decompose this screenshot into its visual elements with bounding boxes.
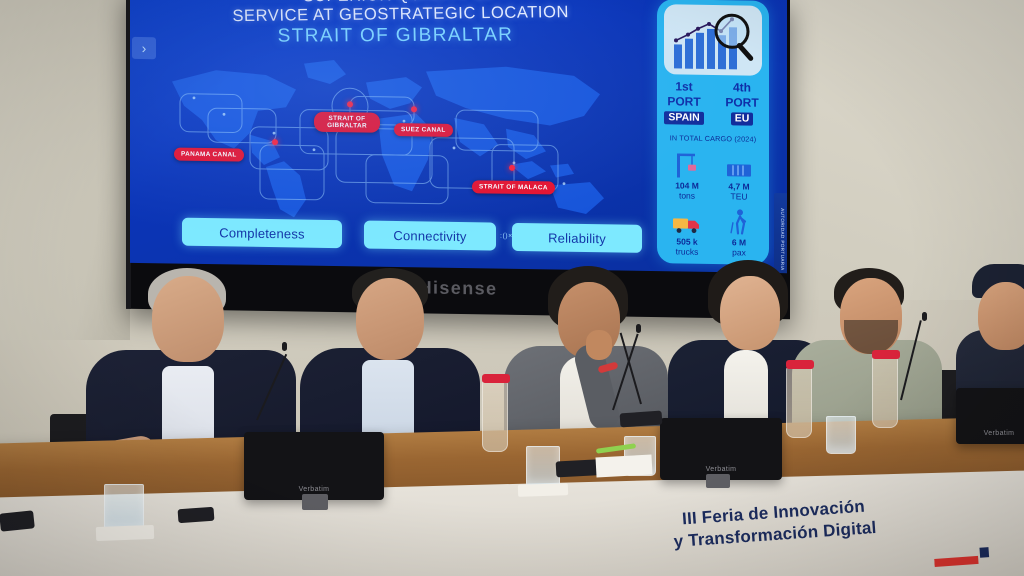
map-label-suez-canal: SUEZ CANAL — [394, 123, 453, 137]
world-map: PANAMA CANAL STRAIT OFGIBRALTAR SUEZ CAN… — [154, 47, 654, 225]
smartphone-3[interactable] — [620, 411, 663, 428]
panelist-3-hand — [586, 330, 612, 360]
slide-title-line2: SERVICE AT GEOSTRATEGIC LOCATION — [232, 3, 569, 25]
pill-completeness[interactable]: Completeness — [182, 218, 342, 249]
chevron-right-icon[interactable]: › — [132, 37, 156, 59]
carafe-cap-1 — [482, 374, 510, 383]
cargo-caption: IN TOTAL CARGO (2024) — [657, 133, 769, 144]
feature-pills: Completeness Connectivity :()× Reliabili… — [182, 218, 662, 256]
microphone-4-head — [922, 312, 927, 321]
presentation-slide: › SUPERIOR QUALITY OF SERVICE AT GEOSTRA… — [130, 0, 787, 273]
rank-left-number: 1st — [663, 79, 705, 95]
metric-tons-value: 104 M — [675, 180, 699, 191]
portable-monitor-center[interactable]: Verbatim — [660, 418, 782, 480]
water-carafe-1 — [482, 380, 508, 452]
metric-pax-unit: pax — [732, 249, 746, 259]
metrics-grid: 104 M tons — [661, 147, 765, 261]
rank-right-chip: EU — [731, 112, 754, 125]
metric-tons: 104 M tons — [661, 147, 713, 204]
map-dot-panama — [272, 139, 278, 145]
bar-chart-icon — [664, 4, 762, 76]
paper-sheet — [596, 455, 653, 478]
port-authority-logo: AUTORIDAD PORTUARIA — [774, 193, 787, 273]
water-glass-2 — [526, 446, 560, 488]
rank-right-word: PORT — [721, 95, 763, 111]
slide-subtitle: STRAIT OF GIBRALTAR — [164, 24, 627, 48]
rank-right-number: 4th — [721, 80, 763, 96]
map-dot-gibraltar — [347, 101, 353, 107]
stats-panel: 1st 4th PORT PORT SPAIN EU IN TOTAL CARG… — [657, 0, 769, 265]
pill-separator-mark: :()× — [500, 233, 513, 240]
metric-tons-unit: tons — [679, 192, 695, 202]
metric-trucks: 505 k trucks — [661, 203, 713, 260]
rank-left-chip: SPAIN — [664, 111, 703, 125]
portable-monitor-right[interactable]: Verbatim — [956, 388, 1024, 444]
napkin-1 — [96, 525, 154, 541]
metric-trucks-value: 505 k — [676, 236, 697, 247]
map-dot-suez — [411, 106, 417, 112]
metric-pax-value: 6 M — [732, 237, 746, 248]
map-label-strait-of-malaca: STRAIT OF MALACA — [472, 180, 555, 194]
microphone-1-head — [282, 342, 287, 351]
metric-pax: 6 M pax — [713, 204, 765, 261]
carafe-cap-3 — [872, 350, 900, 359]
panelist-6-head — [978, 282, 1024, 350]
pedestrian-icon — [728, 206, 750, 236]
container-icon — [725, 150, 753, 180]
metric-trucks-unit: trucks — [676, 248, 699, 258]
monitor-right-brand: Verbatim — [956, 430, 1024, 437]
panelist-4-head — [720, 276, 780, 350]
napkin-2 — [518, 483, 568, 497]
carafe-cap-2 — [786, 360, 814, 369]
monitor-center-brand: Verbatim — [660, 466, 782, 473]
map-dot-malaca — [509, 165, 515, 171]
chart-magnifier-illustration — [664, 4, 762, 76]
water-carafe-2 — [786, 366, 812, 438]
map-label-strait-of-gibraltar: STRAIT OFGIBRALTAR — [314, 112, 380, 133]
metric-teu-value: 4,7 M — [728, 181, 749, 192]
port-ranking: 1st 4th PORT PORT SPAIN EU — [657, 79, 769, 127]
water-glass-4 — [826, 416, 856, 454]
water-carafe-3 — [872, 356, 898, 428]
pill-connectivity[interactable]: Connectivity — [364, 221, 496, 251]
rank-left-word: PORT — [663, 94, 705, 110]
metric-teu: 4,7 M TEU — [713, 148, 765, 205]
map-label-panama-canal: PANAMA CANAL — [174, 148, 244, 162]
monitor-left-brand: Verbatim — [244, 486, 384, 493]
display-screen: › SUPERIOR QUALITY OF SERVICE AT GEOSTRA… — [130, 0, 787, 273]
wall-right-panel — [784, 0, 1024, 300]
metric-teu-unit: TEU — [731, 193, 748, 203]
slide-title: SUPERIOR QUALITY OF SERVICE AT GEOSTRATE… — [164, 0, 638, 26]
panelist-1-head — [152, 276, 224, 362]
banner-logo — [933, 541, 995, 571]
portable-monitor-left[interactable]: Verbatim — [244, 432, 384, 500]
smartphone-1[interactable] — [0, 510, 35, 531]
remote-clicker[interactable] — [178, 507, 215, 523]
crane-icon — [674, 149, 700, 179]
conference-photo-scene: › SUPERIOR QUALITY OF SERVICE AT GEOSTRA… — [0, 0, 1024, 576]
panelist-2-head — [356, 278, 424, 360]
microphone-2-head — [636, 324, 641, 333]
pill-reliability[interactable]: Reliability — [512, 223, 642, 253]
monitor-left-stand — [302, 494, 328, 510]
truck-icon — [672, 205, 702, 235]
monitor-center-stand — [706, 474, 730, 488]
